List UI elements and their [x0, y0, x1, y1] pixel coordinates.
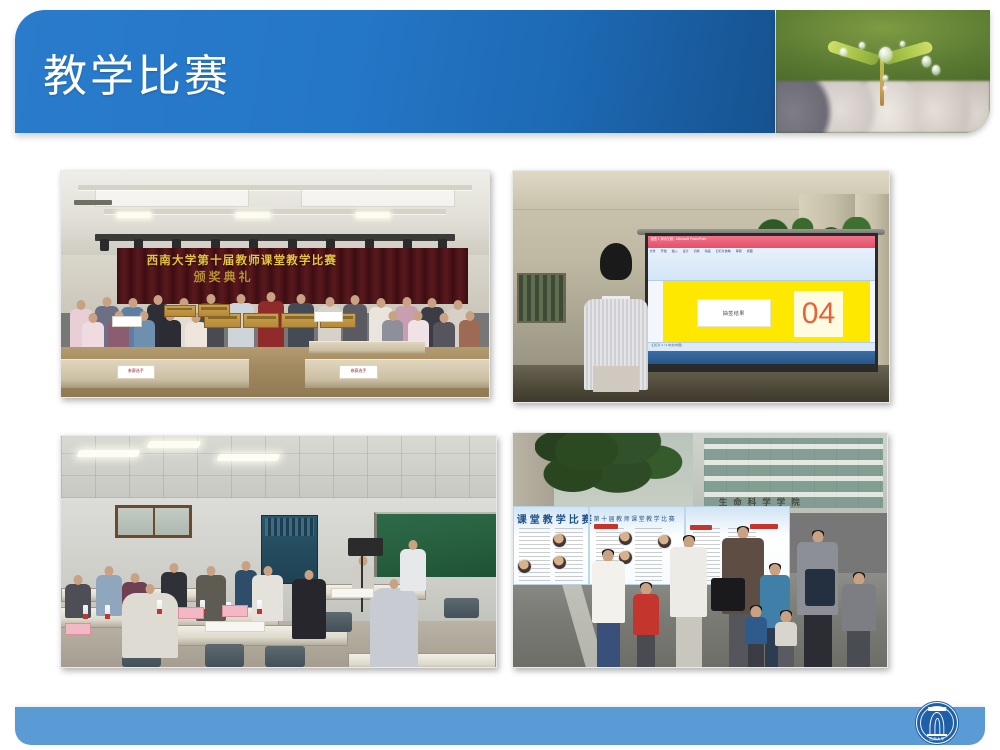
ribbon-tab: 视图 [747, 249, 753, 257]
projected-slide: 抽签 1 演示文稿 - Microsoft PowerPoint 文件 开始 插… [648, 236, 875, 364]
score-sheet [205, 621, 266, 633]
seal-outer-ring: 西南大学 [916, 702, 958, 744]
speaker-mount [74, 200, 113, 205]
classroom-scene [61, 436, 496, 667]
classroom-ceiling [61, 436, 496, 498]
person-legs [637, 635, 655, 667]
board-section-tag [594, 524, 619, 529]
person-legs [847, 631, 870, 667]
sprout-decorative-photo [776, 10, 990, 133]
classroom-chair [205, 644, 244, 667]
student-person [670, 536, 707, 667]
page-title: 教学比赛 [43, 40, 231, 104]
person-torso [775, 622, 797, 646]
classroom-chair [444, 598, 479, 619]
judge-name-card [65, 623, 91, 635]
sprout-stem [880, 59, 884, 106]
person-torso [592, 561, 626, 623]
draw-number: 04 [802, 299, 835, 329]
windows-taskbar [648, 351, 875, 364]
dewdrop-icon [922, 56, 931, 67]
side-table [309, 341, 425, 355]
photo-draw-lots: 抽签 1 演示文稿 - Microsoft PowerPoint 文件 开始 插… [512, 170, 890, 403]
footer-bar [15, 707, 985, 745]
person-torso [745, 617, 767, 644]
student-person [592, 550, 626, 667]
outdoor-scene: 生命科学学院 课堂教学比赛 第十届教师课堂教学比赛 [513, 433, 887, 667]
ceiling-light [236, 212, 270, 218]
powerpoint-ribbon: 文件 开始 插入 设计 切换 动画 幻灯片放映 审阅 视图 [648, 248, 875, 281]
ceiling-light [117, 212, 151, 218]
powerpoint-titlebar: 抽签 1 演示文稿 - Microsoft PowerPoint [648, 236, 875, 247]
presenter-person [584, 247, 648, 390]
person-legs [778, 646, 793, 667]
lobby-window [517, 273, 566, 324]
stage-spotlight [100, 239, 109, 251]
teacher-portrait [517, 559, 532, 574]
photo-classroom-judging [60, 435, 497, 668]
table-name-card [112, 316, 142, 327]
university-seal-logo: 西南大学 [916, 702, 958, 744]
ribbon-tab: 幻灯片放映 [716, 249, 731, 257]
slide-canvas-yellow: 抽签结果 04 [663, 281, 870, 351]
board-divider [588, 507, 590, 585]
photo-outdoor-exhibition: 生命科学学院 课堂教学比赛 第十届教师课堂教学比赛 [512, 432, 888, 668]
water-bottle [83, 605, 88, 619]
teacher-portrait [552, 555, 567, 570]
table-name-card: 参赛选手 [339, 365, 378, 379]
board-title: 课堂教学比赛 [517, 511, 595, 526]
ceiling-panel [95, 189, 249, 207]
award-plaque [243, 313, 279, 328]
student-person [745, 606, 767, 667]
projection-screen: 抽签 1 演示文稿 - Microsoft PowerPoint 文件 开始 插… [645, 233, 878, 372]
person [292, 579, 327, 639]
student-person [775, 611, 797, 667]
title-banner: 教学比赛 [15, 10, 775, 133]
board-text-column [635, 527, 662, 581]
dewdrop-icon [879, 47, 892, 62]
table-name-card-label: 参赛选手 [340, 368, 377, 374]
ribbon-tab: 切换 [694, 249, 700, 257]
award-plaque [281, 313, 317, 328]
ribbon-tab: 插入 [672, 249, 678, 257]
teacher-portrait [618, 531, 633, 546]
lighting-truss [95, 234, 455, 241]
ceiling-panel [301, 189, 455, 207]
person-legs [597, 623, 620, 667]
table-name-card [314, 311, 344, 322]
seal-top-dots [928, 707, 946, 711]
ribbon-tab: 文件 [650, 249, 656, 257]
table-name-card-label: 参赛选手 [118, 368, 155, 374]
ceiling-light [356, 212, 390, 218]
photo-group-photo: 西南大学第十届教师课堂教学比赛 颁奖典礼 [60, 170, 490, 398]
powerpoint-statusbar: 幻灯片 1 / 1 中文(中国) [648, 342, 875, 351]
judge-name-card [178, 607, 204, 619]
draw-lots-scene: 抽签 1 演示文稿 - Microsoft PowerPoint 文件 开始 插… [513, 171, 889, 402]
board-section-tag [690, 525, 712, 530]
person-legs [804, 615, 832, 667]
fluorescent-light [216, 454, 280, 461]
person [122, 593, 179, 658]
score-sheet [331, 588, 375, 597]
person-head [640, 583, 651, 595]
powerpoint-ribbon-tabs: 文件 开始 插入 设计 切换 动画 幻灯片放映 审阅 视图 [650, 249, 873, 257]
person-torso [670, 547, 707, 617]
student-person [842, 573, 876, 667]
front-table [61, 359, 249, 388]
chalkboard [374, 512, 496, 577]
board-subtitle: 第十届教师课堂教学比赛 [594, 514, 677, 523]
ribbon-tab: 审阅 [736, 249, 742, 257]
table-name-card: 参赛选手 [117, 365, 156, 379]
person-legs [676, 617, 701, 667]
fluorescent-light [77, 450, 141, 457]
slide-canvas: 教学比赛 [0, 0, 1000, 750]
ribbon-tab: 设计 [683, 249, 689, 257]
event-banner-text: 西南大学第十届教师课堂教学比赛 [147, 252, 455, 268]
classroom-window [115, 505, 191, 537]
ribbon-tab: 动画 [705, 249, 711, 257]
camera-tripod [361, 556, 363, 611]
water-bottle [157, 600, 162, 614]
classroom-chair [265, 646, 304, 667]
shoulder-bag [711, 578, 745, 611]
person-head [738, 527, 749, 539]
draw-result-label: 抽签结果 [697, 299, 771, 327]
backpack [805, 569, 835, 606]
person [400, 549, 426, 591]
seal-label: 西南大学 [917, 736, 957, 741]
award-plaque [198, 304, 230, 317]
water-bottle [105, 605, 110, 619]
person-legs [748, 644, 763, 667]
person [370, 588, 418, 667]
video-camera [348, 538, 383, 556]
fluorescent-light [147, 441, 202, 448]
student-person [633, 583, 659, 667]
person-torso [842, 584, 876, 631]
presenter-trousers [593, 366, 639, 392]
presenter-hair [600, 243, 632, 280]
pine-tree [535, 432, 707, 513]
group-photo-scene: 西南大学第十届教师课堂教学比赛 颁奖典礼 [61, 171, 489, 397]
draw-number-box: 04 [794, 291, 844, 337]
dewdrop-icon [900, 41, 905, 47]
water-bottle [257, 600, 262, 614]
judge-name-card [222, 605, 248, 617]
person-torso [633, 594, 659, 635]
ribbon-tab: 开始 [661, 249, 667, 257]
front-table [305, 359, 489, 388]
award-plaque [164, 305, 196, 318]
ceiling-beam [104, 209, 446, 214]
group-crowd [61, 277, 489, 352]
